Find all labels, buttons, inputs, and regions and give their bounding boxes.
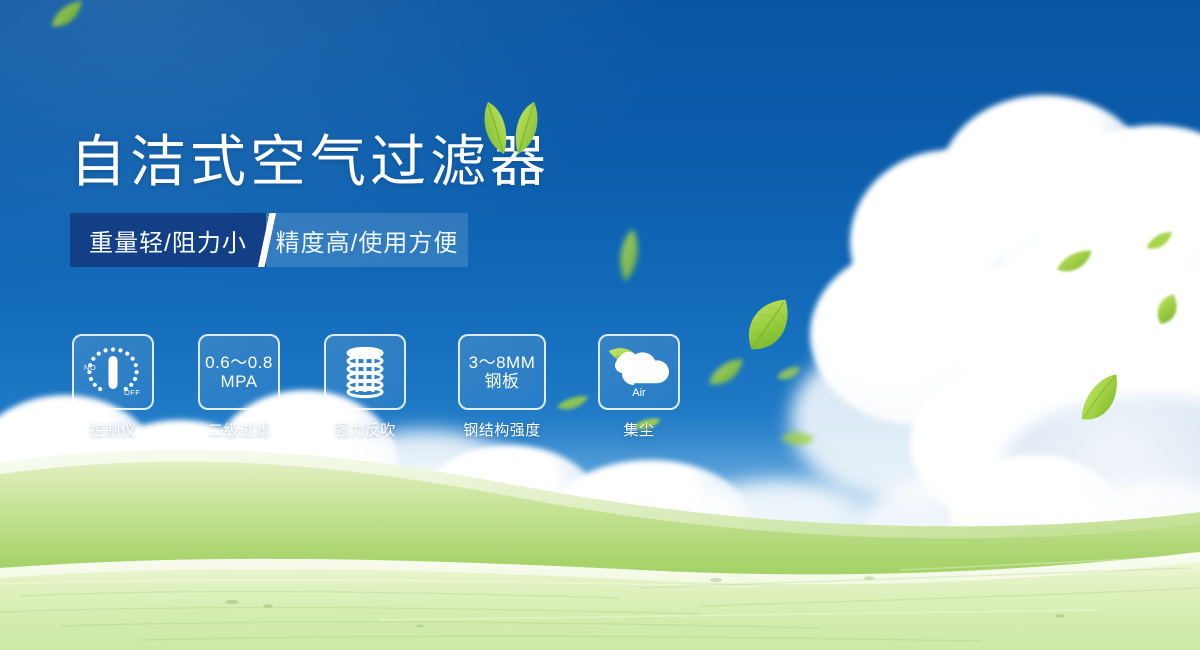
feature-icon-box: 3～8MM 钢板 — [458, 334, 546, 410]
feature-icon-box: Air — [598, 334, 680, 410]
feature-item-pressure: 0.6～0.8 MPA 二级过滤 — [198, 334, 280, 440]
feature-item-blowback: 强力反吹 — [324, 334, 406, 440]
leaf-icon — [727, 282, 810, 367]
svg-text:Air: Air — [632, 387, 646, 399]
feature-tag-0: 重量轻/阻力小 — [70, 213, 266, 267]
pressure-line-1: 0.6～0.8 — [205, 353, 273, 372]
control-dial-icon: NO OFF — [82, 343, 144, 401]
promo-banner: 自洁式空气过滤器 重量轻/阻力小 精度高/使用方便 — [0, 0, 1200, 650]
sprout-leaves-icon — [474, 100, 546, 156]
feature-item-dust: Air 集尘 — [598, 334, 680, 440]
leaf-icon — [1067, 369, 1137, 435]
feature-icon-row: NO OFF 控制仪 0.6～0.8 MPA 二级过滤 — [72, 334, 680, 440]
pressure-text-icon: 0.6～0.8 MPA — [205, 353, 273, 391]
leaf-icon — [702, 351, 753, 396]
feature-label: 二级过滤 — [208, 419, 270, 440]
steel-line-1: 3～8MM — [469, 353, 536, 372]
leaf-icon — [44, 0, 92, 38]
leaf-icon — [777, 424, 816, 456]
cloud-icon — [790, 95, 1200, 515]
pressure-line-2: MPA — [205, 372, 273, 391]
feature-label: 控制仪 — [90, 419, 137, 440]
cloud-icon — [330, 430, 890, 610]
cloud-icon — [860, 455, 1200, 605]
feature-tag-group: 重量轻/阻力小 精度高/使用方便 — [70, 213, 468, 267]
steel-plate-text-icon: 3～8MM 钢板 — [469, 353, 536, 391]
feature-icon-box: NO OFF — [72, 334, 154, 410]
feature-icon-box — [324, 334, 406, 410]
leaf-icon — [775, 364, 804, 385]
feature-label: 钢结构强度 — [463, 419, 541, 440]
feature-label: 集尘 — [623, 419, 654, 440]
svg-text:OFF: OFF — [124, 388, 140, 397]
grass-field-icon — [0, 420, 1200, 650]
horizon-haze — [0, 425, 1200, 585]
feature-item-steel: 3～8MM 钢板 钢结构强度 — [450, 334, 554, 440]
leaf-icon — [1052, 246, 1097, 281]
leaf-icon — [1143, 228, 1178, 256]
air-cloud-icon: Air — [607, 343, 671, 401]
feature-item-control-dial: NO OFF 控制仪 — [72, 334, 154, 440]
filter-cartridge-icon — [337, 344, 393, 400]
feature-tag-1: 精度高/使用方便 — [266, 213, 468, 267]
steel-line-2: 钢板 — [469, 372, 536, 391]
headline-block: 自洁式空气过滤器 重量轻/阻力小 精度高/使用方便 — [70, 132, 830, 267]
leaf-icon — [1146, 287, 1187, 330]
feature-icon-box: 0.6～0.8 MPA — [198, 334, 280, 410]
page-title: 自洁式空气过滤器 — [70, 132, 830, 191]
tag-divider — [252, 213, 282, 267]
svg-text:NO: NO — [84, 363, 96, 372]
feature-label: 强力反吹 — [334, 419, 396, 440]
